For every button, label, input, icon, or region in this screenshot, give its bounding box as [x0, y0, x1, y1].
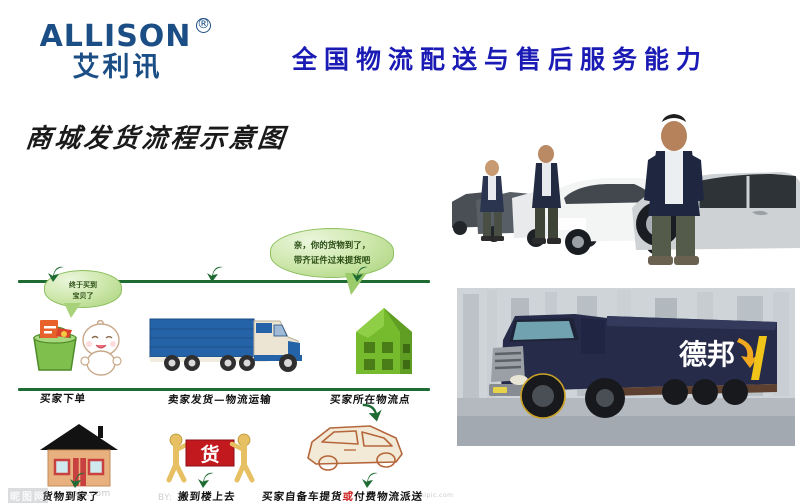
flow-arrow-icon [46, 264, 68, 282]
sedan-sketch-icon [300, 418, 410, 474]
step-label-seller-ship: 卖家发货—物流运输 [167, 392, 272, 407]
warehouse-icon [348, 302, 420, 380]
bubble-line-2: 宝贝了 [45, 290, 121, 301]
flow-arrow-icon [360, 470, 382, 488]
page-header: ALLISON ® 艾利讯 全国物流配送与售后服务能力 [0, 0, 800, 100]
goods-arrived-bubble: 亲，你的货物到了， 带齐证件过来提货吧 [270, 228, 394, 278]
flow-arrow-icon [68, 470, 90, 488]
logo-latin-text: ALLISON [28, 22, 203, 52]
watermark-author: BY: 三 [158, 490, 185, 503]
watermark-id: nipic.com [420, 492, 453, 499]
flow-arrow-icon [196, 470, 218, 488]
step-label-carry-upstairs: 搬到楼上去 [177, 489, 236, 504]
logo-chinese-text: 艾利讯 [28, 52, 203, 83]
flow-arrow-icon [350, 264, 372, 282]
watermark-domain: pic.com [72, 489, 111, 499]
cartoon-baby-icon [76, 318, 126, 376]
diagram-title: 商城发货流程示意图 [24, 118, 289, 155]
bubble-line-2: 带齐证件过来提货吧 [271, 254, 393, 269]
step-label-post: 付费物流派送 [353, 491, 423, 503]
step-label-buyer-order: 买家下单 [39, 391, 86, 406]
shopping-basket-icon [28, 312, 82, 374]
semi-truck-icon [148, 313, 318, 377]
step-label-pickup-or-deliver: 买家自备车提货或付费物流派送 [261, 489, 423, 504]
flow-arrow-icon [205, 264, 227, 282]
shipping-flow-diagram: 商城发货流程示意图 终于买到 宝贝了 亲，你的货物到了， 带齐证件过来提货吧 [0, 100, 450, 420]
page-title: 全国物流配送与售后服务能力 [240, 40, 760, 76]
registered-trademark-icon: ® [196, 18, 211, 33]
bubble-line-1: 亲，你的货物到了， [271, 239, 393, 254]
step-label-pre: 买家自备车提货 [261, 491, 343, 503]
truck-brand-text: 德邦 [679, 338, 735, 371]
service-fleet-photo [452, 108, 800, 273]
step-label-local-hub: 买家所在物流点 [329, 392, 411, 407]
watermark-badge: 昵图网 [8, 488, 48, 503]
deppon-logistics-truck-photo: 德邦 [457, 288, 795, 446]
allison-logo: ALLISON ® 艾利讯 [28, 22, 203, 83]
crate-character: 货 [200, 443, 219, 466]
